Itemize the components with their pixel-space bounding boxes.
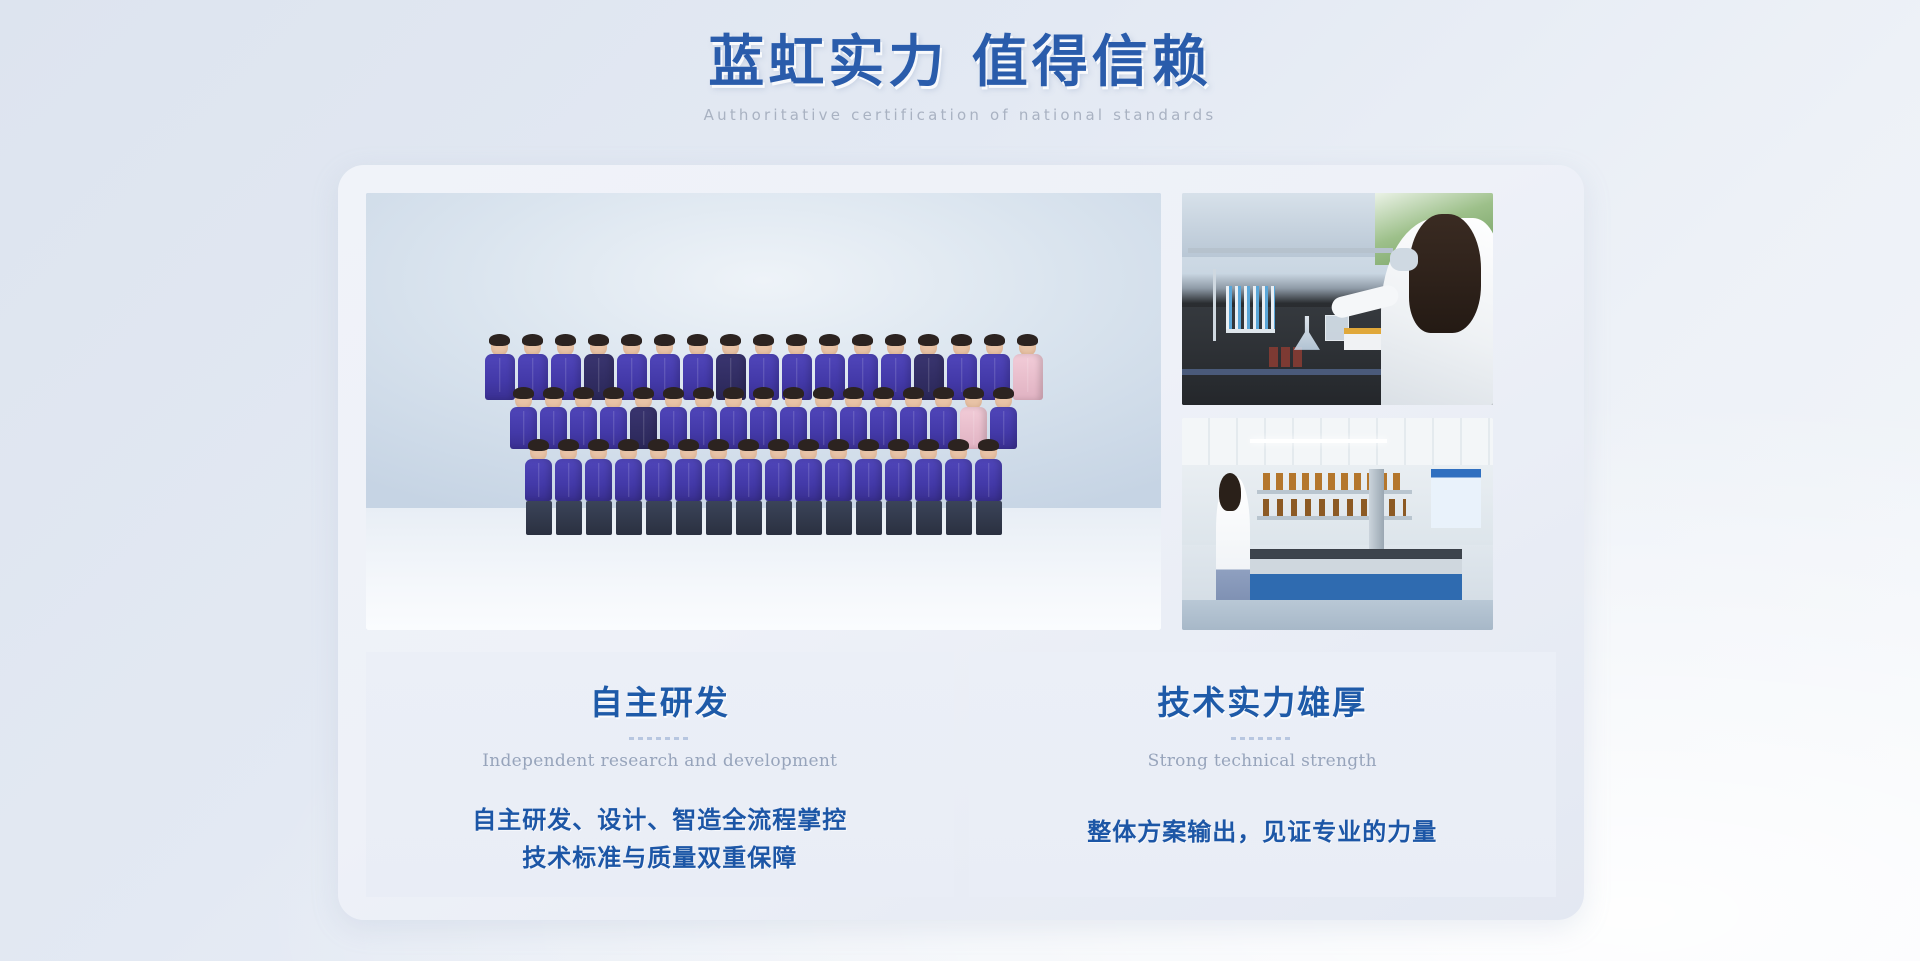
photo-person <box>825 442 852 535</box>
card-description-line: 自主研发、设计、智造全流程掌控 <box>366 801 954 839</box>
card-description: 整体方案输出，见证专业的力量 <box>969 813 1557 851</box>
page-title: 蓝虹实力 值得信赖 <box>0 30 1920 94</box>
photo-person-row-front <box>366 442 1161 535</box>
lab-floor <box>1182 600 1493 630</box>
lab-wall <box>1182 193 1375 257</box>
card-subtitle: Independent research and development <box>366 751 954 771</box>
team-group-photo <box>366 193 1161 630</box>
laboratory-room-photo-art <box>1182 418 1493 630</box>
lab-shelf-upper <box>1257 490 1413 494</box>
lab-technician-photo-art <box>1182 193 1493 405</box>
card-description-line: 技术标准与质量双重保障 <box>366 839 954 877</box>
content-panel: 自主研发 Independent research and developmen… <box>338 165 1584 920</box>
photo-person <box>765 442 792 535</box>
photo-person <box>735 442 762 535</box>
lab-technician-photo <box>1182 193 1493 405</box>
lab-bench-edge <box>1182 369 1412 375</box>
photo-person <box>675 442 702 535</box>
photo-person <box>795 442 822 535</box>
lab-shelf <box>1188 248 1393 253</box>
feature-card-technical-strength[interactable]: 技术实力雄厚 Strong technical strength 整体方案输出，… <box>969 652 1557 897</box>
lab-bench-top <box>1226 550 1462 558</box>
photo-person <box>945 442 972 535</box>
team-group-photo-art <box>366 193 1161 630</box>
photo-person-row-middle <box>366 390 1161 449</box>
lab-technician-hair <box>1409 214 1481 333</box>
photo-person <box>615 442 642 535</box>
photo-person <box>705 442 732 535</box>
lab-technician-mask <box>1390 248 1418 271</box>
photo-person <box>885 442 912 535</box>
photo-collage <box>366 193 1556 630</box>
side-photo-column <box>1182 193 1493 630</box>
dashed-divider-icon <box>629 737 691 740</box>
lab-researcher-hair <box>1219 473 1241 511</box>
photo-person <box>525 442 552 535</box>
ceiling-light <box>1250 439 1387 443</box>
card-title: 技术实力雄厚 <box>969 676 1557 724</box>
dashed-divider-icon <box>1231 737 1293 740</box>
lab-shelf-lower <box>1257 516 1413 520</box>
photo-person <box>585 442 612 535</box>
page-subtitle: Authoritative certification of national … <box>0 106 1920 124</box>
photo-person <box>555 442 582 535</box>
feature-cards: 自主研发 Independent research and developmen… <box>366 652 1556 897</box>
pipette-rack <box>1226 286 1276 333</box>
photo-person <box>915 442 942 535</box>
lab-stand <box>1213 269 1216 341</box>
wall-poster <box>1431 469 1481 528</box>
feature-card-independent-rnd[interactable]: 自主研发 Independent research and developmen… <box>366 652 954 897</box>
laboratory-room-photo <box>1182 418 1493 630</box>
photo-person <box>855 442 882 535</box>
photo-person <box>645 442 672 535</box>
card-description: 自主研发、设计、智造全流程掌控 技术标准与质量双重保障 <box>366 801 954 877</box>
card-description-line: 整体方案输出，见证专业的力量 <box>969 813 1557 851</box>
card-subtitle: Strong technical strength <box>969 751 1557 771</box>
page-header: 蓝虹实力 值得信赖 Authoritative certification of… <box>0 0 1920 124</box>
card-title: 自主研发 <box>366 676 954 724</box>
photo-person <box>975 442 1002 535</box>
